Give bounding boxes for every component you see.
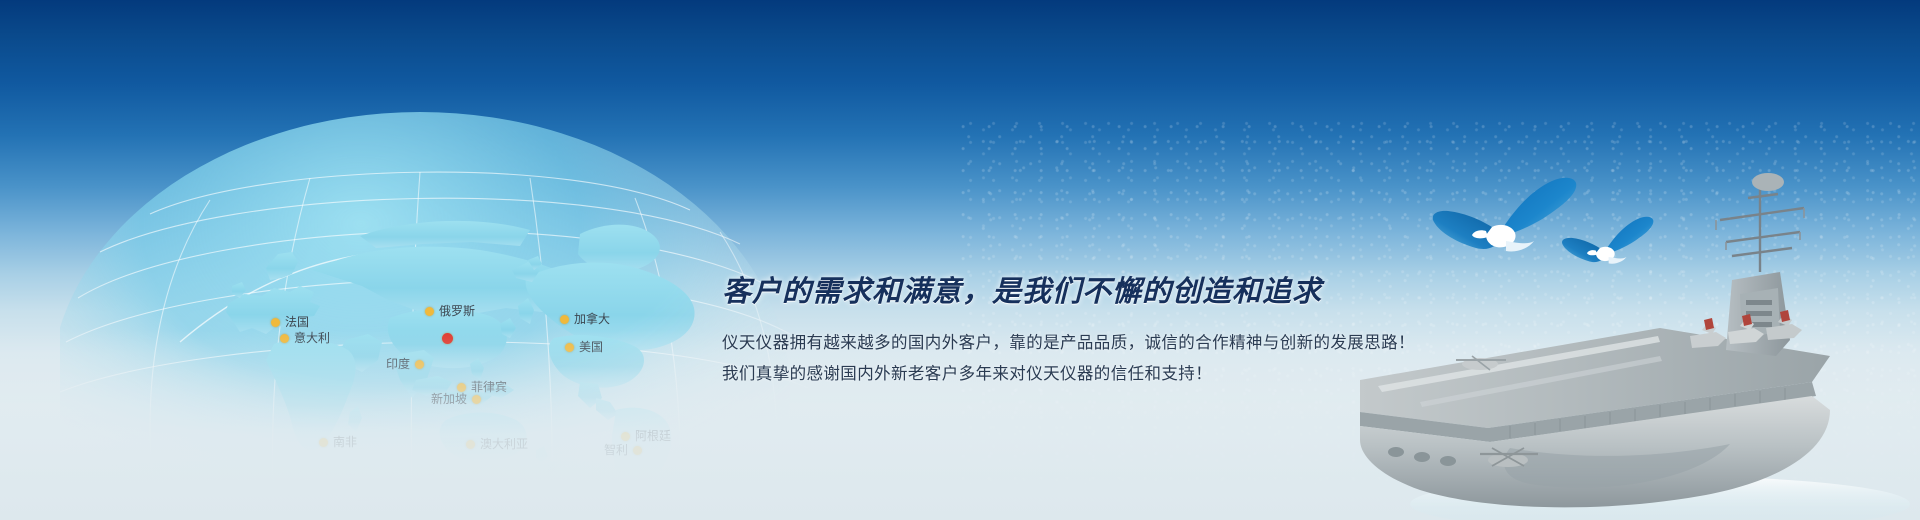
radar-dome bbox=[1752, 173, 1784, 191]
map-marker-dot-icon bbox=[425, 307, 434, 316]
banner-subtext-line-1: 仪天仪器拥有越来越多的国内外客户，靠的是产品品质，诚信的合作精神与创新的发展思路… bbox=[722, 327, 1382, 358]
hero-banner: 法国意大利俄罗斯加拿大美国印度菲律宾新加坡南非澳大利亚智利阿根廷 bbox=[0, 0, 1920, 520]
map-marker-label: 加拿大 bbox=[574, 313, 610, 325]
map-marker-法国: 法国 bbox=[271, 316, 309, 328]
map-marker-dot-icon bbox=[560, 315, 569, 324]
map-marker-俄罗斯: 俄罗斯 bbox=[425, 305, 475, 317]
radar-mast bbox=[1720, 186, 1804, 272]
aircraft-carrier bbox=[1360, 160, 1920, 520]
banner-headline: 客户的需求和满意，是我们不懈的创造和追求 bbox=[722, 268, 1382, 310]
banner-subtext-line-2: 我们真挚的感谢国内外新老客户多年来对仪天仪器的信任和支持！ bbox=[722, 358, 1382, 389]
map-marker-加拿大: 加拿大 bbox=[560, 313, 610, 325]
map-marker-label: 法国 bbox=[285, 316, 309, 328]
banner-subtext: 仪天仪器拥有越来越多的国内外客户，靠的是产品品质，诚信的合作精神与创新的发展思路… bbox=[722, 327, 1382, 389]
banner-copy: 客户的需求和满意，是我们不懈的创造和追求 仪天仪器拥有越来越多的国内外客户，靠的… bbox=[722, 268, 1382, 389]
map-marker-dot-icon bbox=[271, 318, 280, 327]
map-marker-label: 俄罗斯 bbox=[439, 305, 475, 317]
